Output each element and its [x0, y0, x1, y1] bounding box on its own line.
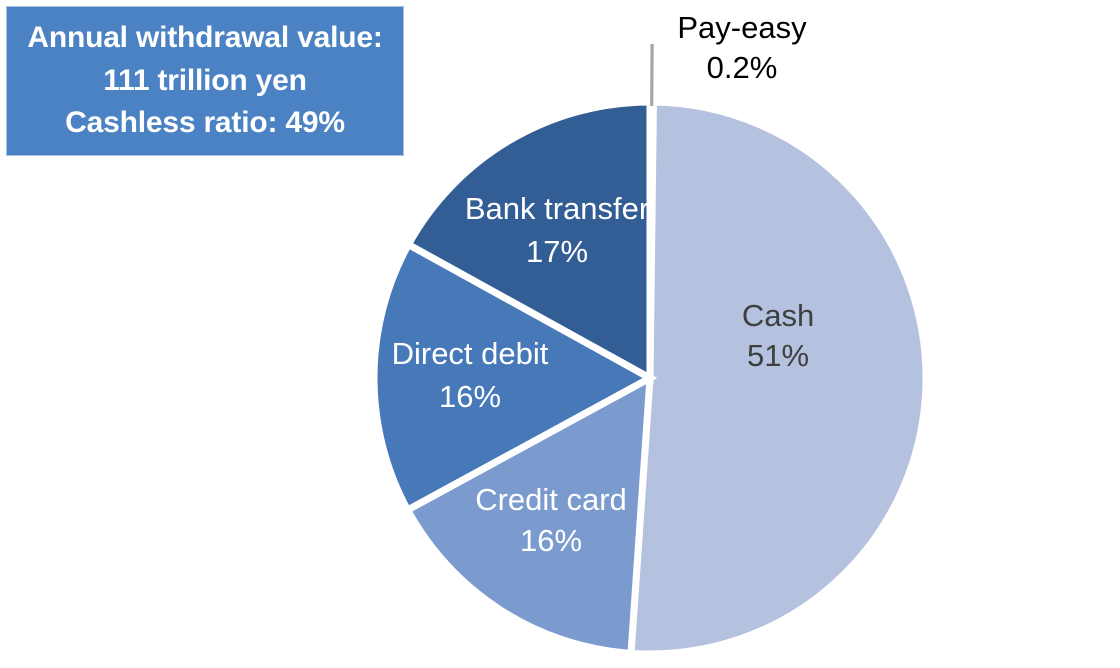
pie-slices-group [374, 102, 926, 654]
slice-label-direct-debit: Direct debit [392, 336, 549, 371]
chart-page: Annual withdrawal value: 111 trillion ye… [0, 0, 1120, 668]
slice-value-pay-easy: 0.2% [707, 50, 778, 85]
slice-label-bank-transfer: Bank transfer [465, 191, 649, 226]
slice-label-cash: Cash [742, 298, 814, 333]
slice-value-credit-card: 16% [520, 523, 582, 558]
slice-value-direct-debit: 16% [439, 379, 501, 414]
slice-label-pay-easy: Pay-easy [677, 10, 807, 45]
slice-value-cash: 51% [747, 338, 809, 373]
slice-label-credit-card: Credit card [475, 482, 627, 517]
slice-value-bank-transfer: 17% [526, 234, 588, 269]
pie-chart: Pay-easy0.2%Cash51%Credit card16%Direct … [0, 0, 1120, 668]
pie-slice-cash[interactable] [631, 102, 926, 654]
